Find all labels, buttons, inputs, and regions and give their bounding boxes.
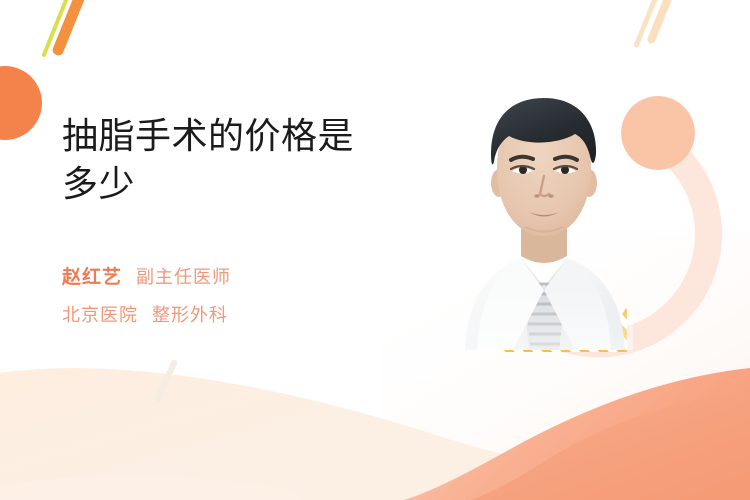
credential-line-affiliation: 北京医院 整形外科 — [62, 301, 452, 327]
department-name: 整形外科 — [152, 301, 228, 327]
top-left-stripe-group — [41, 0, 96, 57]
orange-circle-decoration — [0, 66, 42, 140]
text-block: 抽脂手术的价格是 多少 赵红艺 副主任医师 北京医院 整形外科 — [62, 112, 452, 327]
doctor-info-card: 抽脂手术的价格是 多少 赵红艺 副主任医师 北京医院 整形外科 — [0, 0, 750, 500]
portrait-illustration — [455, 88, 633, 350]
orange-stripe-icon — [51, 0, 96, 57]
nostril-right — [548, 194, 553, 198]
doctor-title: 副主任医师 — [136, 263, 231, 289]
top-right-stripe-group — [633, 0, 684, 48]
photo-bottom-fade — [455, 288, 633, 350]
doctor-name: 赵红艺 — [62, 262, 122, 289]
hospital-name: 北京医院 — [62, 301, 138, 327]
page-title: 抽脂手术的价格是 多少 — [62, 112, 452, 208]
credential-line-name: 赵红艺 副主任医师 — [62, 262, 452, 289]
credentials-block: 赵红艺 副主任医师 北京医院 整形外科 — [62, 262, 452, 327]
doctor-portrait — [455, 88, 633, 350]
nostril-left — [534, 194, 539, 198]
